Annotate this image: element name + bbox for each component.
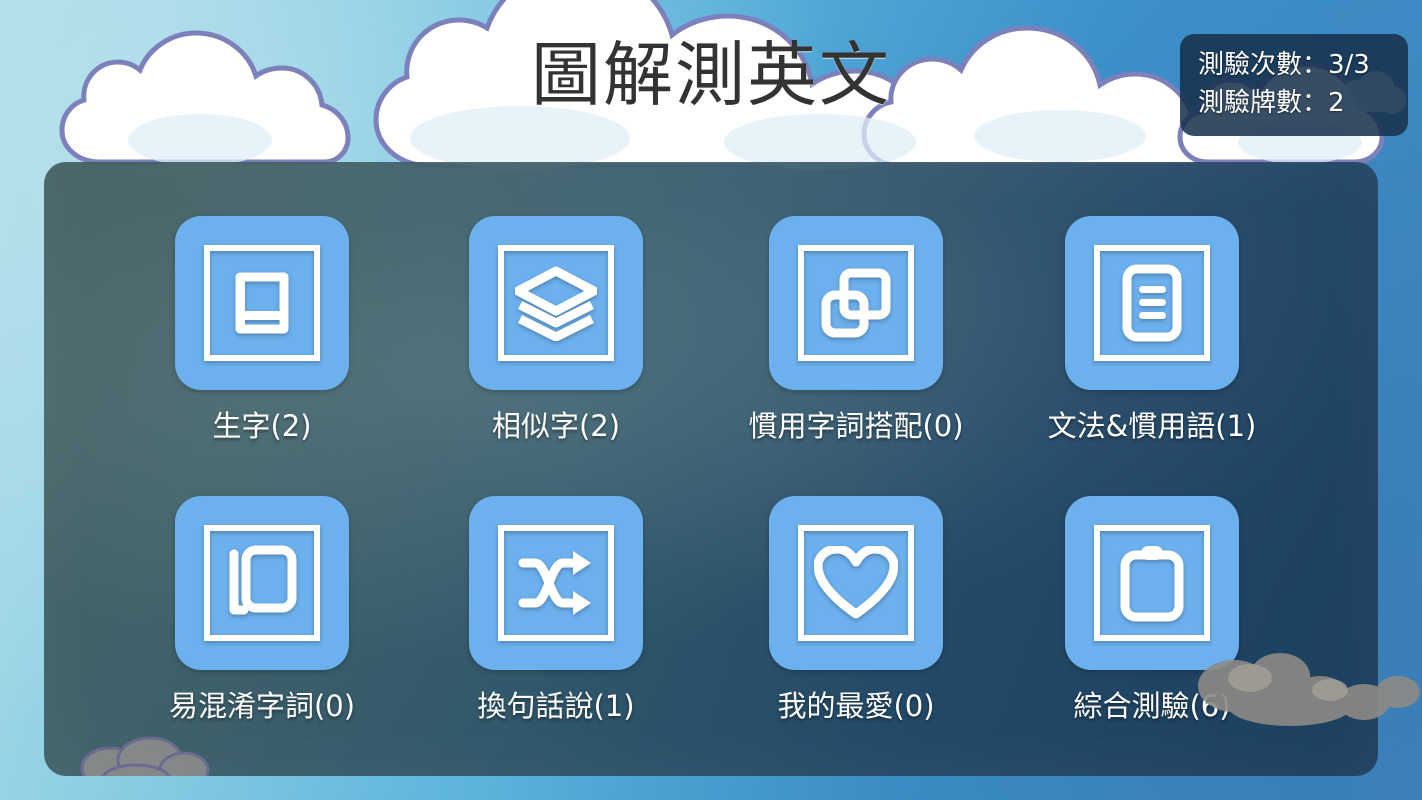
menu-item-label: 慣用字詞搭配(0) [706,408,1006,444]
heart-icon [798,525,914,641]
menu-panel: 生字(2) 相似字(2) [44,162,1378,776]
menu-item-label: 易混淆字詞(0) [112,688,412,724]
stat-attempts: 測驗次數：3/3 [1198,46,1392,84]
menu-item-label: 相似字(2) [406,408,706,444]
menu-item-vocabulary-button[interactable] [175,216,349,390]
menu-item-confusing-words-button[interactable] [175,496,349,670]
menu-item-paraphrase-button[interactable] [469,496,643,670]
menu-item-similar-words-button[interactable] [469,216,643,390]
shuffle-icon [498,525,614,641]
book-icon [204,245,320,361]
app-root: 圖解測英文 測驗次數：3/3 測驗牌數：2 [0,0,1422,800]
menu-item-similar-words[interactable]: 相似字(2) [406,216,706,444]
menu-item-label: 文法&慣用語(1) [1002,408,1302,444]
menu-item-collocations[interactable]: 慣用字詞搭配(0) [706,216,1006,444]
menu-item-grammar-button[interactable] [1065,216,1239,390]
menu-item-comprehensive-test[interactable]: 綜合測驗(6) [1002,496,1302,724]
menu-item-comprehensive-test-button[interactable] [1065,496,1239,670]
stat-cards: 測驗牌數：2 [1198,84,1392,122]
clipboard-icon [1094,525,1210,641]
layers-icon [498,245,614,361]
menu-item-favorites-button[interactable] [769,496,943,670]
menu-item-favorites[interactable]: 我的最愛(0) [706,496,1006,724]
menu-grid: 生字(2) 相似字(2) [44,162,1378,776]
menu-item-grammar[interactable]: 文法&慣用語(1) [1002,216,1302,444]
menu-item-label: 我的最愛(0) [706,688,1006,724]
menu-item-label: 生字(2) [112,408,412,444]
document-lines-icon [1094,245,1210,361]
menu-item-confusing-words[interactable]: 易混淆字詞(0) [112,496,412,724]
menu-item-paraphrase[interactable]: 換句話說(1) [406,496,706,724]
menu-item-label: 綜合測驗(6) [1002,688,1302,724]
menu-item-label: 換句話說(1) [406,688,706,724]
copy-cards-icon [204,525,320,641]
menu-item-collocations-button[interactable] [769,216,943,390]
menu-item-vocabulary[interactable]: 生字(2) [112,216,412,444]
stats-panel: 測驗次數：3/3 測驗牌數：2 [1180,34,1408,136]
overlapping-squares-icon [798,245,914,361]
